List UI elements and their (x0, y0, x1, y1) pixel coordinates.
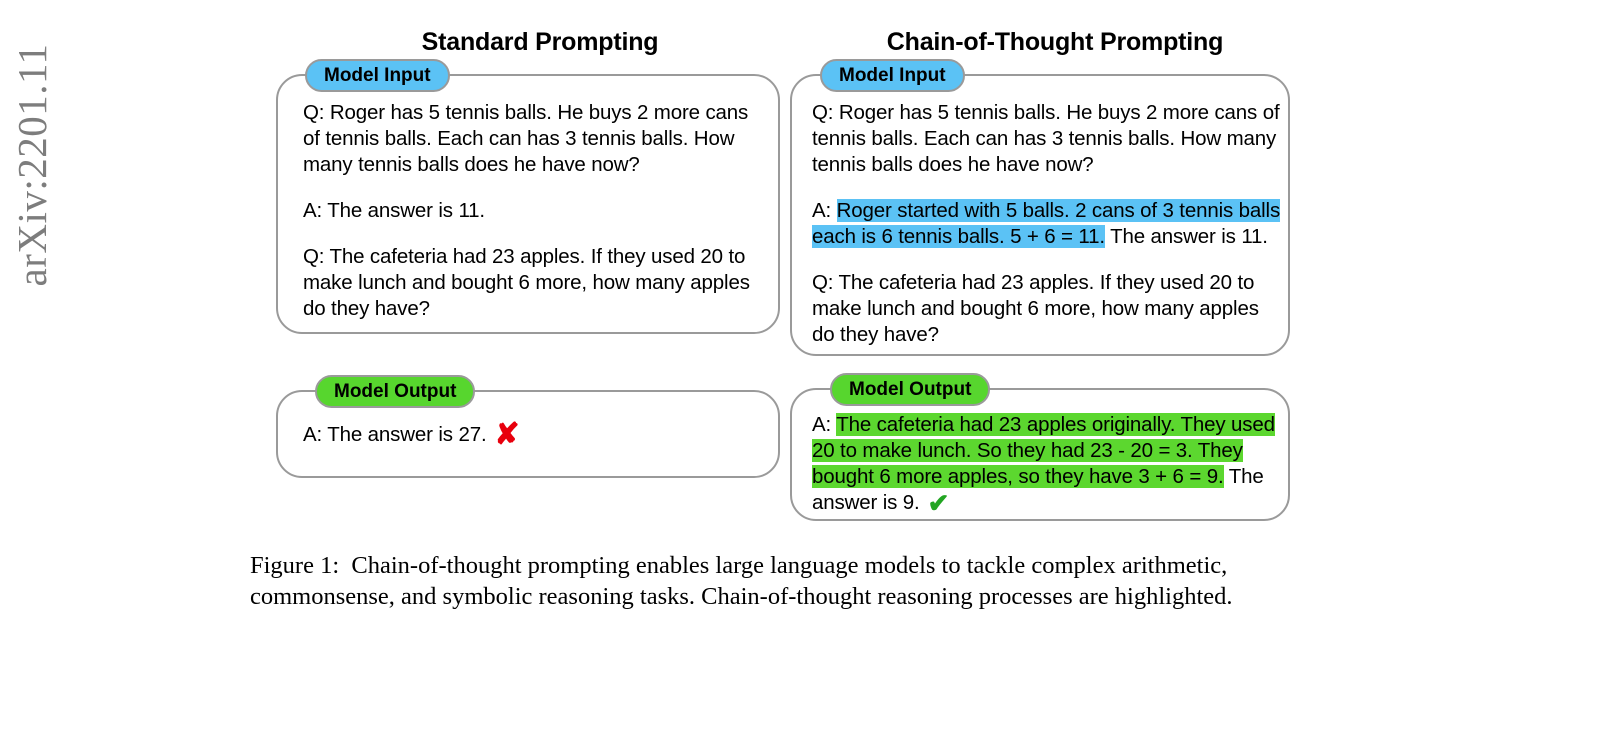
figure-caption: Figure 1: Chain-of-thought prompting ena… (250, 550, 1340, 612)
standard-input-paragraph-3: Q: The cafeteria had 23 apples. If they … (303, 244, 765, 322)
cot-input-paragraph-2: Q: The cafeteria had 23 apples. If they … (812, 270, 1282, 348)
cot-input-answer-suffix: The answer is 11. (1105, 225, 1268, 248)
cot-output-answer: A: The cafeteria had 23 apples originall… (812, 412, 1282, 516)
standard-input-paragraph-1: Q: Roger has 5 tennis balls. He buys 2 m… (303, 100, 765, 178)
standard-model-input-text: Q: Roger has 5 tennis balls. He buys 2 m… (303, 100, 765, 322)
cot-input-answer: A: Roger started with 5 balls. 2 cans of… (812, 198, 1282, 250)
cot-output-reasoning-highlight: The cafeteria had 23 apples originally. … (812, 413, 1275, 488)
cot-input-answer-prefix: A: (812, 199, 837, 222)
cross-icon: ✘ (495, 420, 520, 450)
figure-caption-label: Figure 1: (250, 552, 339, 579)
badge-standard-model-input: Model Input (305, 59, 450, 92)
cot-output-answer-prefix: A: (812, 413, 836, 436)
heading-chain-of-thought-prompting: Chain-of-Thought Prompting (815, 28, 1295, 57)
standard-model-output-text: A: The answer is 27.✘ (303, 420, 765, 450)
heading-standard-prompting: Standard Prompting (300, 28, 780, 57)
check-icon: ✔ (928, 490, 950, 516)
figure-caption-text: Chain-of-thought prompting enables large… (250, 552, 1233, 610)
badge-standard-model-output: Model Output (315, 375, 475, 408)
cot-input-paragraph-1: Q: Roger has 5 tennis balls. He buys 2 m… (812, 100, 1282, 178)
standard-input-paragraph-2: A: The answer is 11. (303, 198, 765, 224)
badge-cot-model-input: Model Input (820, 59, 965, 92)
cot-model-output-text: A: The cafeteria had 23 apples originall… (812, 412, 1282, 516)
standard-output-answer: A: The answer is 27.✘ (303, 420, 765, 450)
cot-model-input-text: Q: Roger has 5 tennis balls. He buys 2 m… (812, 100, 1282, 348)
badge-cot-model-output: Model Output (830, 373, 990, 406)
figure-1: Standard Prompting Chain-of-Thought Prom… (0, 0, 1618, 739)
standard-output-answer-text: A: The answer is 27. (303, 423, 487, 446)
